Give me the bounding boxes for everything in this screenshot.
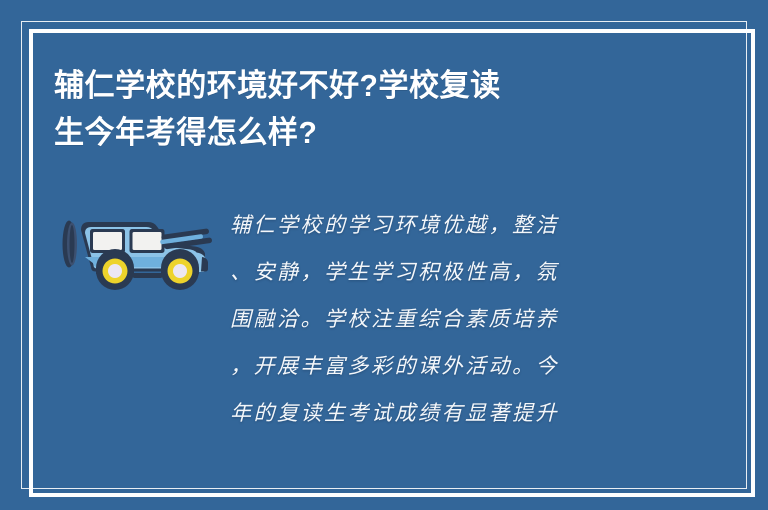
body-line-4: ，开展丰富多彩的课外活动。今 — [230, 343, 650, 390]
front-bumper — [201, 257, 208, 272]
front-wheel-icon — [161, 252, 199, 290]
spare-tire-icon — [63, 221, 78, 268]
body-line-1: 辅仁学校的学习环境优越，整洁 — [230, 202, 650, 249]
title-line-2: 生今年考得怎么样? — [54, 109, 655, 156]
poster-canvas: 辅仁学校的环境好不好?学校复读 生今年考得怎么样? — [0, 0, 768, 510]
body-line-5: 年的复读生考试成绩有显著提升 — [230, 390, 650, 437]
content-area: 辅仁学校的学习环境优越，整洁 、安静，学生学习积极性高，氛 围融洽。学校注重综合… — [0, 190, 768, 480]
rear-wheel-icon — [96, 252, 134, 290]
page-title: 辅仁学校的环境好不好?学校复读 生今年考得怎么样? — [54, 62, 674, 156]
body-line-3: 围融洽。学校注重综合素质培养 — [230, 296, 650, 343]
side-step-bar — [132, 273, 163, 278]
rear-window-glass — [93, 232, 122, 250]
title-line-1: 辅仁学校的环境好不好?学校复读 — [54, 62, 655, 109]
body-paragraph: 辅仁学校的学习环境优越，整洁 、安静，学生学习积极性高，氛 围融洽。学校注重综合… — [230, 202, 650, 437]
front-window-glass — [133, 232, 162, 250]
jeep-illustration — [52, 198, 217, 298]
roof-rack-icon — [160, 228, 212, 249]
body-line-2: 、安静，学生学习积极性高，氛 — [230, 249, 650, 296]
